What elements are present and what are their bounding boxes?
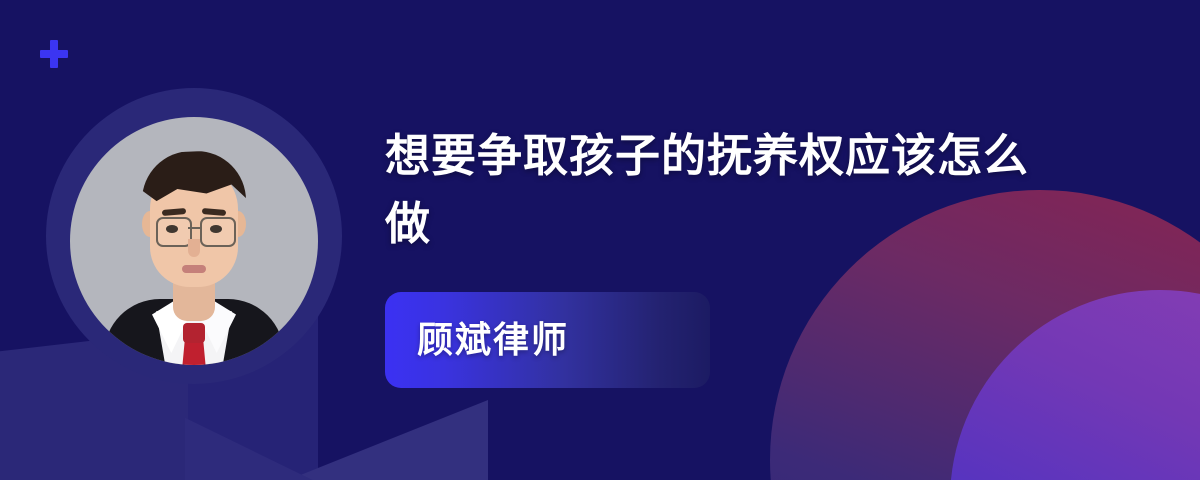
portrait-glasses-bridge xyxy=(188,227,200,229)
plus-icon xyxy=(40,40,68,68)
portrait-nose xyxy=(188,239,200,257)
page-title: 想要争取孩子的抚养权应该怎么做 xyxy=(385,122,1045,258)
decor-circle-inner xyxy=(950,290,1200,480)
portrait-mouth xyxy=(182,265,206,273)
lawyer-name-button[interactable]: 顾斌律师 xyxy=(385,292,710,388)
decor-wedge-right xyxy=(188,400,488,480)
portrait-tie-knot xyxy=(183,323,205,343)
content-block: 想要争取孩子的抚养权应该怎么做 xyxy=(385,122,1085,258)
lawyer-banner: 想要争取孩子的抚养权应该怎么做 顾斌律师 xyxy=(0,0,1200,480)
avatar xyxy=(70,117,318,365)
portrait-glasses-left xyxy=(156,217,192,247)
decor-wedge-arrow xyxy=(185,398,370,480)
portrait-glasses-right xyxy=(200,217,236,247)
